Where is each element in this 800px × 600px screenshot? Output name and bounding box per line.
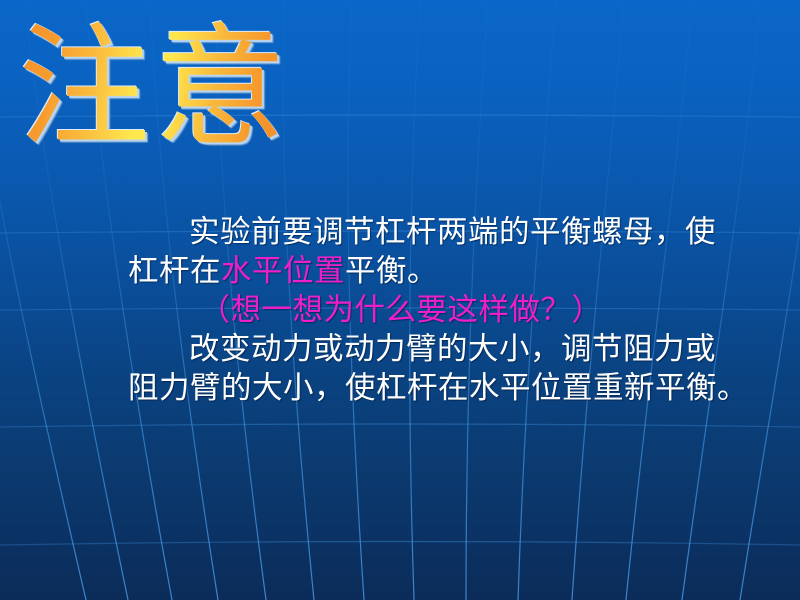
body-line-5: 阻力臂的大小，使杠杆在水平位置重新平衡。 — [128, 369, 674, 408]
body-line-2-prefix: 杠杆在 — [128, 254, 221, 289]
slide-title: 注意 注意 — [18, 8, 438, 180]
slide-body-text: 实验前要调节杠杆两端的平衡螺母，使 杠杆在水平位置平衡。 （想一想为什么要这样做… — [128, 213, 674, 408]
body-line-1-text: 实验前要调节杠杆两端的平衡螺母，使 — [189, 215, 716, 250]
body-line-3-question: （想一想为什么要这样做？） — [128, 291, 674, 330]
body-line-4: 改变动力或动力臂的大小，调节阻力或 — [128, 330, 674, 369]
slide-title-text: 注意 — [18, 8, 290, 168]
body-line-2: 杠杆在水平位置平衡。 — [128, 252, 674, 291]
body-line-3-text: （想一想为什么要这样做？） — [200, 293, 603, 328]
body-line-1: 实验前要调节杠杆两端的平衡螺母，使 — [128, 213, 674, 252]
body-line-4-text: 改变动力或动力臂的大小，调节阻力或 — [189, 332, 716, 367]
body-line-5-text: 阻力臂的大小，使杠杆在水平位置重新平衡。 — [128, 371, 748, 406]
body-line-2-highlight: 水平位置 — [221, 254, 345, 289]
body-line-2-suffix: 平衡。 — [345, 254, 438, 289]
presentation-slide: 注意 注意 实验前要调节杠杆两端的平衡螺母，使 杠杆在水平位置平衡。 （想一想为… — [0, 0, 800, 600]
